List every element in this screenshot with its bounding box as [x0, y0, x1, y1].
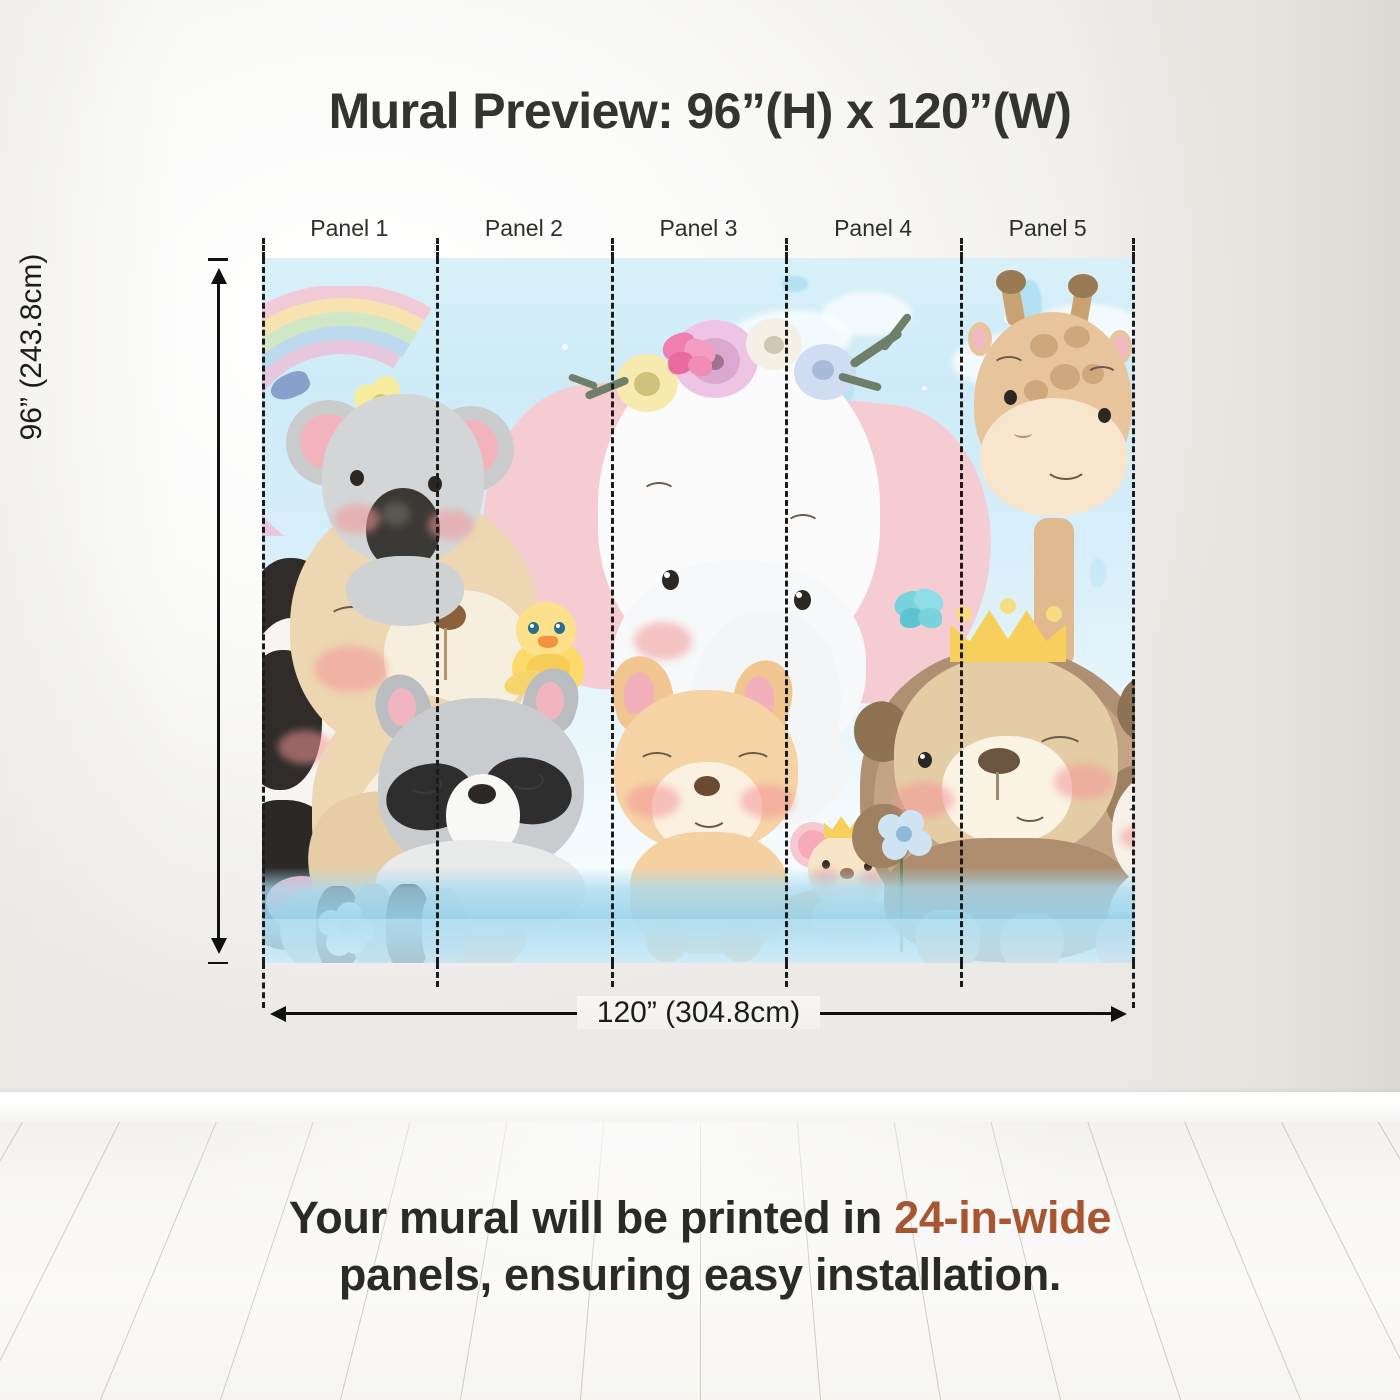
- height-dimension-label: 96” (243.8cm): [15, 137, 49, 557]
- panel-divider-2: [611, 258, 614, 963]
- koala: [286, 380, 516, 630]
- panel-divider-5: [1132, 258, 1135, 963]
- panel-divider-low-4: [960, 963, 963, 987]
- panel-divider-ext-1: [436, 238, 439, 258]
- caption-accent: 24-in-wide: [894, 1192, 1111, 1243]
- height-tick-bottom: [208, 962, 228, 965]
- mural-artwork: [262, 258, 1135, 963]
- panel-divider-ext-4: [960, 238, 963, 258]
- panel-label-row: Panel 1Panel 2Panel 3Panel 4Panel 5: [262, 215, 1135, 249]
- panel-divider-ext-0: [262, 238, 265, 258]
- height-line: [217, 272, 220, 948]
- panel-divider-ext-2: [611, 238, 614, 258]
- panel-divider-3: [785, 258, 788, 963]
- width-dimension-label: 120” (304.8cm): [258, 996, 1139, 1030]
- caption: Your mural will be printed in 24-in-wide…: [0, 1190, 1400, 1303]
- panel-label-5: Panel 5: [960, 215, 1135, 249]
- panel-divider-low-3: [785, 963, 788, 987]
- panel-divider-ext-5: [1132, 238, 1135, 258]
- height-dimension-line: [205, 256, 231, 966]
- panel-label-4: Panel 4: [786, 215, 961, 249]
- pink-butterfly: [662, 334, 722, 382]
- panel-divider-0: [262, 258, 265, 963]
- panel-label-3: Panel 3: [611, 215, 786, 249]
- mural-preview[interactable]: [262, 258, 1135, 963]
- caption-line-1: Your mural will be printed in 24-in-wide: [0, 1190, 1400, 1247]
- arrow-down-icon: [211, 938, 227, 954]
- caption-text-before: Your mural will be printed in: [289, 1192, 894, 1243]
- panel-divider-ext-3: [785, 238, 788, 258]
- panel-divider-low-2: [611, 963, 614, 987]
- panel-divider-4: [960, 258, 963, 963]
- room-scene: Mural Preview: 96”(H) x 120”(W) Panel 1P…: [0, 0, 1400, 1400]
- mural-ground-shine: [262, 919, 1135, 963]
- width-dimension-line: 120” (304.8cm): [258, 1000, 1139, 1026]
- panel-divider-1: [436, 258, 439, 963]
- arrow-up-icon: [211, 268, 227, 284]
- baseboard: [0, 1092, 1400, 1122]
- page-title: Mural Preview: 96”(H) x 120”(W): [0, 82, 1400, 140]
- caption-line-2: panels, ensuring easy installation.: [0, 1247, 1400, 1304]
- width-dimension-text: 120” (304.8cm): [577, 996, 820, 1029]
- panel-label-2: Panel 2: [437, 215, 612, 249]
- panel-label-1: Panel 1: [262, 215, 437, 249]
- panel-divider-low-1: [436, 963, 439, 987]
- height-tick-top: [208, 258, 228, 261]
